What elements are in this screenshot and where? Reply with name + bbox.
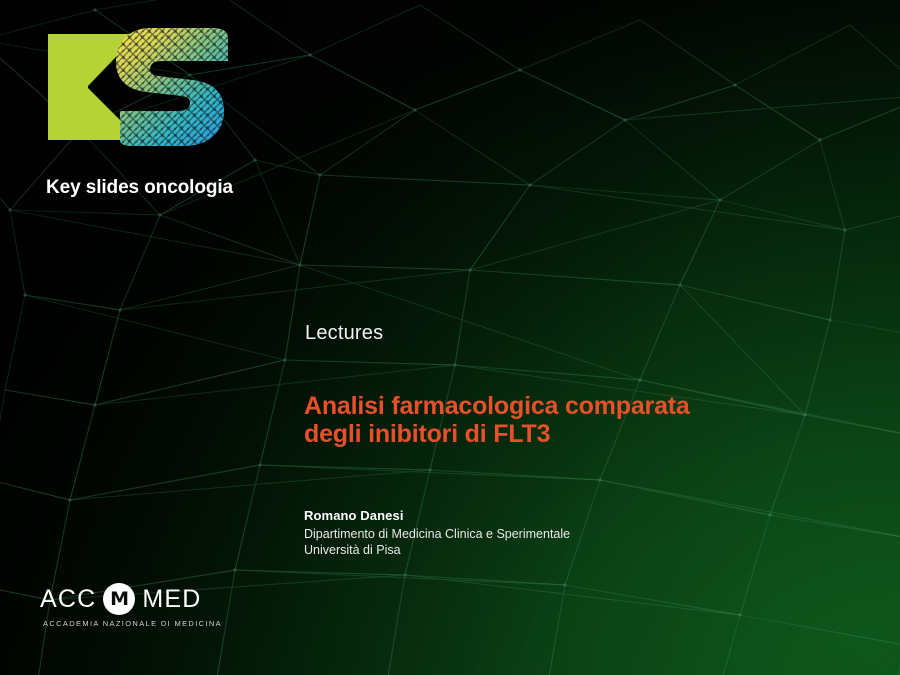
slide-title-line-1: Analisi farmacologica comparata [304,392,734,420]
presentation-title-slide: Key slides oncologia Lectures Analisi fa… [0,0,900,675]
accmed-logo-subtitle: ACCADEMIA NAZIONALE DI MEDICINA [43,619,225,628]
affiliation-line-1: Dipartimento di Medicina Clinica e Speri… [304,527,570,543]
slide-eyebrow-label: Lectures [305,322,383,345]
accmed-word-left: ACC [40,585,96,614]
author-affiliation: Dipartimento di Medicina Clinica e Speri… [304,527,570,558]
accmed-logo-wordmark: ACC M MED [40,582,225,616]
accmed-monogram-letter: M [110,590,128,609]
slide-title: Analisi farmacologica comparata degli in… [304,392,734,448]
affiliation-line-2: Università di Pisa [304,543,570,559]
brand-logo: Key slides oncologia [42,28,252,180]
accmed-monogram-icon: M [103,583,135,615]
accmed-word-right: MED [142,585,201,614]
author-name: Romano Danesi [304,508,404,523]
ks-monogram-icon [42,28,247,146]
logo-letter-k [48,34,88,140]
logo-letter-s [102,28,247,146]
accmed-logo: ACC M MED ACCADEMIA NAZIONALE DI MEDICIN… [40,582,225,634]
slide-title-line-2: degli inibitori di FLT3 [304,420,734,448]
brand-logo-caption: Key slides oncologia [46,177,233,199]
